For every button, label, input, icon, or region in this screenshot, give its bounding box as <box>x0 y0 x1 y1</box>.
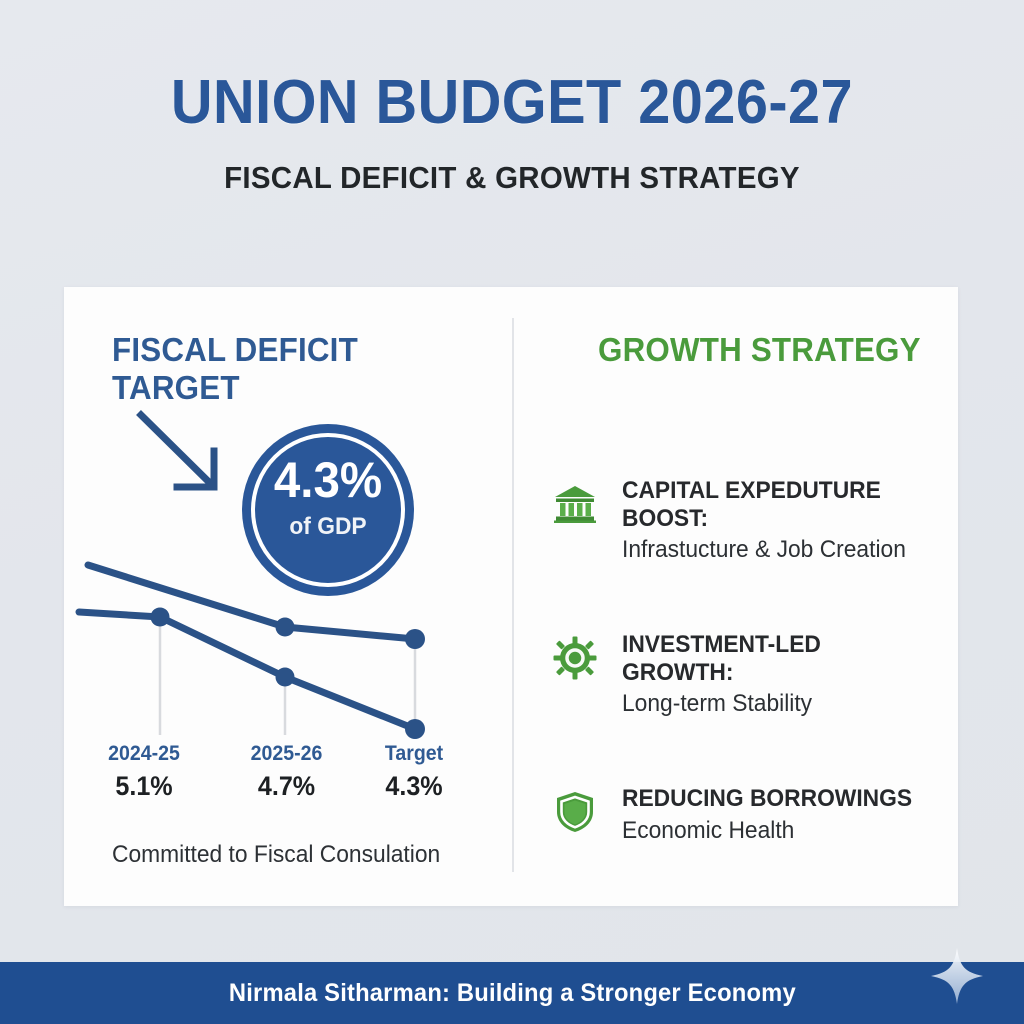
deficit-target-caption: of GDP <box>246 513 409 541</box>
page-subtitle: FISCAL DEFICIT & GROWTH STRATEGY <box>26 160 999 196</box>
chart-period-label: 2025-26 <box>228 742 344 766</box>
strategy-subtext: Economic Health <box>622 817 932 846</box>
strategy-text: REDUCING BORROWINGS Economic Health <box>622 785 948 845</box>
chart-axis-labels: 2024-25 5.1% 2025-26 4.7% Target 4.3% <box>64 742 512 802</box>
strategy-text: CAPITAL EXPEDUTURE BOOST: Infrastucture … <box>622 477 948 565</box>
chart-period-label: Target <box>354 742 475 766</box>
chart-period-label: 2024-25 <box>70 742 219 766</box>
chart-label-group-1: 2025-26 4.7% <box>224 742 349 802</box>
strategy-heading: INVESTMENT-LED GROWTH: <box>622 631 932 686</box>
strategy-text: INVESTMENT-LED GROWTH: Long-term Stabili… <box>622 631 948 719</box>
gear-icon <box>552 635 598 681</box>
fiscal-deficit-chart: 4.3% of GDP <box>64 287 512 906</box>
strategy-subtext: Infrastucture & Job Creation <box>622 536 932 565</box>
poster-header: UNION BUDGET 2026-27 FISCAL DEFICIT & GR… <box>0 72 1024 196</box>
fiscal-deficit-footnote: Committed to Fiscal Consulation <box>112 841 440 869</box>
strategy-heading: CAPITAL EXPEDUTURE BOOST: <box>622 477 932 532</box>
poster-footer: Nirmala Sitharman: Building a Stronger E… <box>0 962 1024 1024</box>
page-title: UNION BUDGET 2026-27 <box>36 72 988 134</box>
deficit-target-value: 4.3% <box>246 455 409 505</box>
strategy-subtext: Long-term Stability <box>622 690 932 719</box>
chart-line-main <box>79 608 425 740</box>
growth-strategy-list: CAPITAL EXPEDUTURE BOOST: Infrastucture … <box>552 477 948 911</box>
footer-text: Nirmala Sitharman: Building a Stronger E… <box>229 979 796 1008</box>
chart-label-group-0: 2024-25 5.1% <box>64 742 224 802</box>
list-item: CAPITAL EXPEDUTURE BOOST: Infrastucture … <box>552 477 948 565</box>
infographic-poster: UNION BUDGET 2026-27 FISCAL DEFICIT & GR… <box>0 0 1024 1024</box>
chart-value-label: 4.3% <box>354 771 475 802</box>
content-card: FISCAL DEFICIT TARGET <box>64 287 958 906</box>
strategy-heading: REDUCING BORROWINGS <box>622 785 932 813</box>
growth-strategy-panel: GROWTH STRATEGY <box>514 287 958 906</box>
fiscal-deficit-panel: FISCAL DEFICIT TARGET <box>64 287 512 906</box>
deficit-target-badge-text: 4.3% of GDP <box>242 455 414 541</box>
list-item: REDUCING BORROWINGS Economic Health <box>552 785 948 845</box>
down-right-arrow-icon <box>141 415 214 487</box>
chart-value-label: 4.7% <box>228 771 344 802</box>
shield-icon <box>552 789 598 835</box>
list-item: INVESTMENT-LED GROWTH: Long-term Stabili… <box>552 631 948 719</box>
chart-value-label: 5.1% <box>70 771 219 802</box>
chart-label-group-2: Target 4.3% <box>349 742 479 802</box>
growth-strategy-panel-title: GROWTH STRATEGY <box>598 331 921 369</box>
bank-building-icon <box>552 481 598 527</box>
